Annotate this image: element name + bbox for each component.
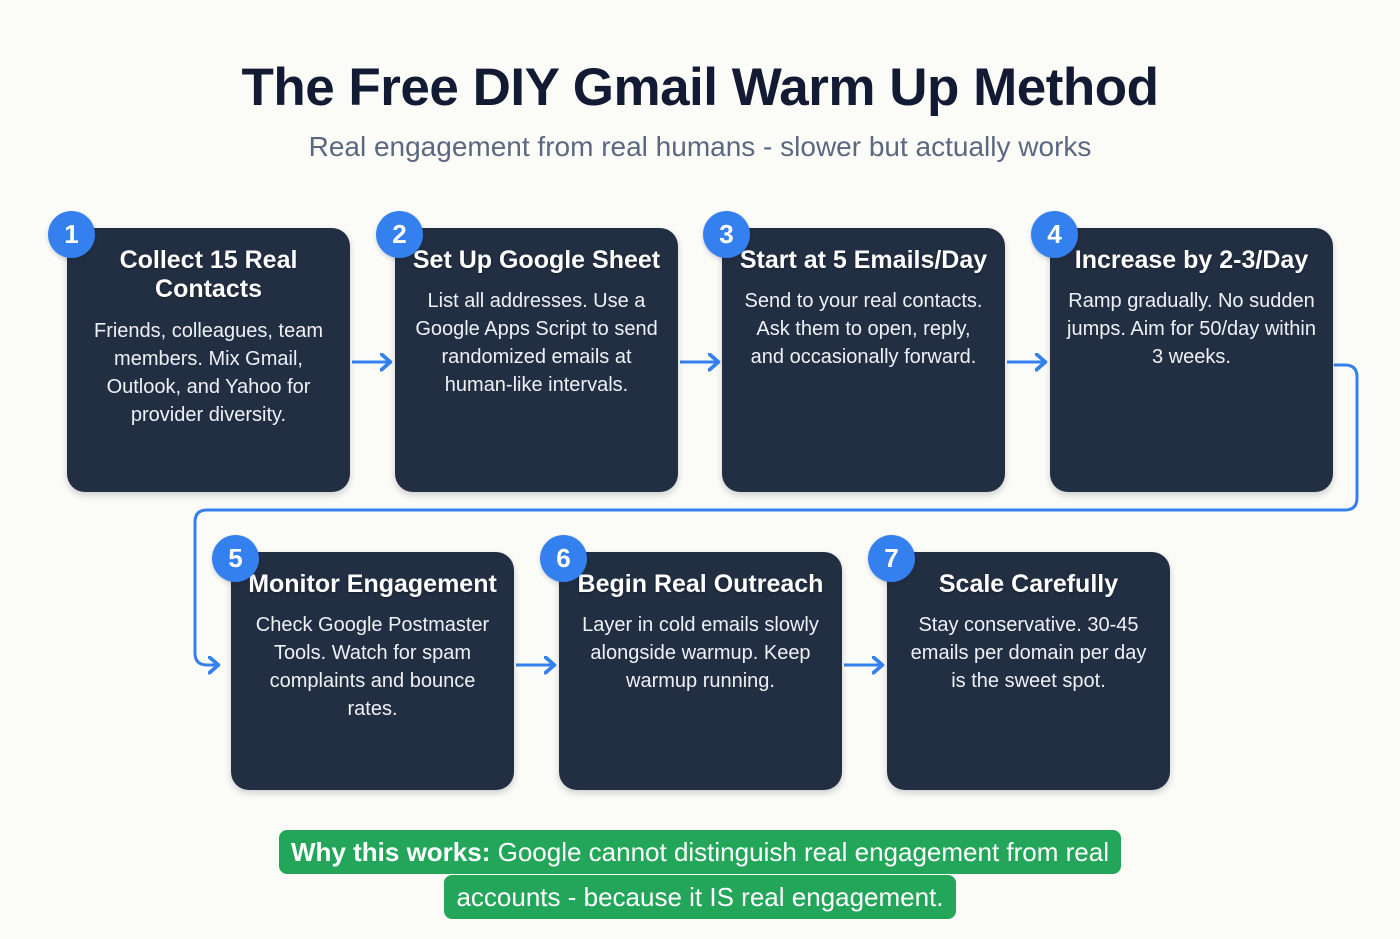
step-card-3-title: Start at 5 Emails/Day bbox=[740, 246, 987, 275]
step-card-6[interactable]: Begin Real Outreach Layer in cold emails… bbox=[559, 552, 842, 790]
why-this-works-lead: Why this works: bbox=[291, 837, 490, 867]
step-badge-4: 4 bbox=[1031, 211, 1078, 258]
step-card-7-title: Scale Carefully bbox=[939, 570, 1118, 599]
step-card-5-body: Check Google Postmaster Tools. Watch for… bbox=[247, 599, 498, 723]
step-badge-6: 6 bbox=[540, 535, 587, 582]
why-this-works-banner: Why this works: Google cannot distinguis… bbox=[240, 830, 1160, 919]
header: The Free DIY Gmail Warm Up Method Real e… bbox=[0, 0, 1400, 164]
step-badge-2: 2 bbox=[376, 211, 423, 258]
step-card-1-title: Collect 15 Real Contacts bbox=[83, 246, 334, 305]
step-card-4-title: Increase by 2-3/Day bbox=[1075, 246, 1308, 275]
step-card-6-title: Begin Real Outreach bbox=[578, 570, 824, 599]
step-card-4[interactable]: Increase by 2-3/Day Ramp gradually. No s… bbox=[1050, 228, 1333, 492]
page-title: The Free DIY Gmail Warm Up Method bbox=[0, 0, 1400, 117]
step-badge-1: 1 bbox=[48, 211, 95, 258]
why-this-works-text: Why this works: Google cannot distinguis… bbox=[279, 830, 1121, 919]
step-card-4-body: Ramp gradually. No sudden jumps. Aim for… bbox=[1066, 275, 1317, 371]
step-card-7-body: Stay conservative. 30-45 emails per doma… bbox=[903, 599, 1154, 695]
step-card-1[interactable]: Collect 15 Real Contacts Friends, collea… bbox=[67, 228, 350, 492]
step-card-2-body: List all addresses. Use a Google Apps Sc… bbox=[411, 275, 662, 399]
step-badge-5: 5 bbox=[212, 535, 259, 582]
step-badge-3: 3 bbox=[703, 211, 750, 258]
step-card-3-body: Send to your real contacts. Ask them to … bbox=[738, 275, 989, 371]
step-card-1-body: Friends, colleagues, team members. Mix G… bbox=[83, 305, 334, 429]
step-card-2-title: Set Up Google Sheet bbox=[413, 246, 660, 275]
why-this-works-message: Google cannot distinguish real engagemen… bbox=[456, 837, 1109, 912]
step-card-3[interactable]: Start at 5 Emails/Day Send to your real … bbox=[722, 228, 1005, 492]
step-card-5[interactable]: Monitor Engagement Check Google Postmast… bbox=[231, 552, 514, 790]
page-subtitle: Real engagement from real humans - slowe… bbox=[0, 117, 1400, 164]
step-card-2[interactable]: Set Up Google Sheet List all addresses. … bbox=[395, 228, 678, 492]
step-card-6-body: Layer in cold emails slowly alongside wa… bbox=[575, 599, 826, 695]
step-card-5-title: Monitor Engagement bbox=[248, 570, 497, 599]
step-badge-7: 7 bbox=[868, 535, 915, 582]
step-card-7[interactable]: Scale Carefully Stay conservative. 30-45… bbox=[887, 552, 1170, 790]
infographic-canvas: The Free DIY Gmail Warm Up Method Real e… bbox=[0, 0, 1400, 939]
